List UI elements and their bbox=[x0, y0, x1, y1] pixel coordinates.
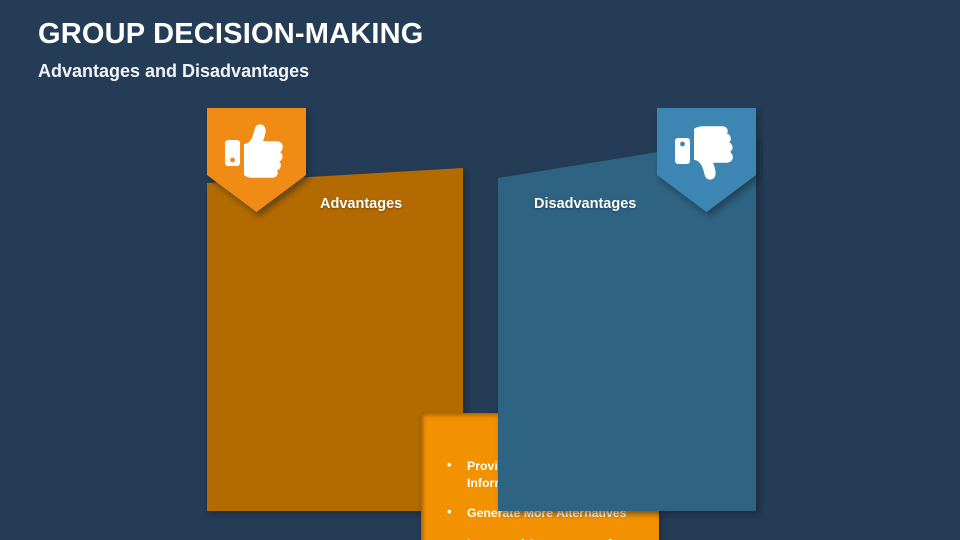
disadvantages-heading: Disadvantages bbox=[534, 196, 636, 212]
advantages-heading: Advantages bbox=[320, 196, 402, 212]
page-title: GROUP DECISION-MAKING bbox=[38, 18, 424, 51]
list-item: Increased Acceptance of a Solution bbox=[447, 536, 641, 540]
slide-canvas: GROUP DECISION-MAKING Advantages and Dis… bbox=[0, 0, 960, 540]
page-subtitle: Advantages and Disadvantages bbox=[38, 61, 309, 82]
advantages-panel[interactable]: Provide Complete Information Generate Mo… bbox=[207, 168, 463, 511]
disadvantages-pin[interactable] bbox=[657, 108, 756, 214]
advantages-pin[interactable] bbox=[207, 108, 306, 214]
